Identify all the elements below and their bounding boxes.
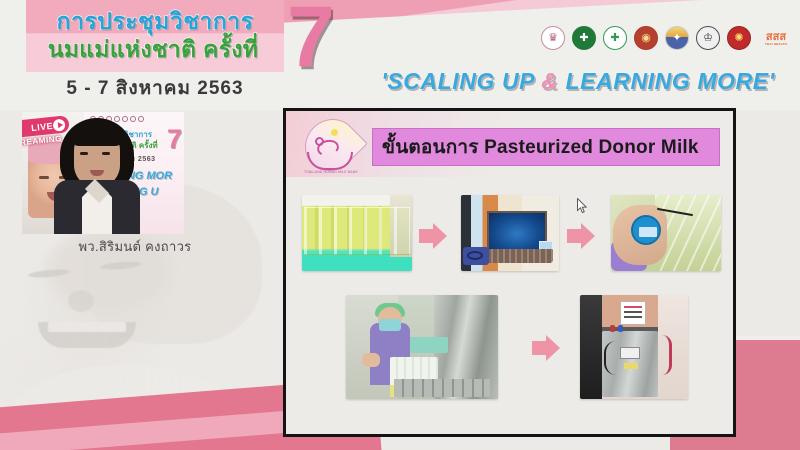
- photo-laptop-data-logger: [461, 195, 559, 271]
- speaker-fringe: [72, 126, 122, 146]
- photo2-laptop-screen: [487, 211, 547, 251]
- sponsor-logos: ♛ ✚ ✚ ◉ ✦ ♔ ✺ สสส THAI HEALTH: [541, 26, 794, 56]
- slide-title: ขั้นตอนการ Pasteurized Donor Milk: [372, 128, 720, 166]
- ministry-of-public-health-logo-glyph: ✚: [603, 26, 627, 50]
- watermark-eye-left: [28, 268, 70, 279]
- human-milk-bank-logo-caption: THAILAND HUMAN MILK BANK: [300, 170, 362, 174]
- process-arrow-1-head: [433, 223, 447, 249]
- thai-breastfeeding-center-logo-glyph: ✚: [572, 26, 596, 50]
- watermark-nose: [68, 290, 94, 312]
- photo4-nurse-hand: [362, 353, 380, 367]
- tagline-prefix: 'SCALING UP: [381, 68, 541, 94]
- photo4-green-tray: [406, 337, 448, 353]
- poster-edition-number: 7: [167, 126, 182, 153]
- speaker-name: พว.สิริมนต์ คงถาวร: [20, 236, 250, 257]
- nursing-council-logo-glyph: ♔: [696, 26, 720, 50]
- photo-handheld-temperature-meter: [611, 195, 721, 271]
- presentation-slide[interactable]: THAILAND HUMAN MILK BANK ขั้นตอนการ Past…: [283, 108, 736, 437]
- photo5-wall-sign: [620, 301, 646, 325]
- photo5-control-panel: [620, 347, 640, 359]
- royal-college-logo: ✦: [665, 26, 691, 56]
- photo5-doorframe: [580, 295, 602, 399]
- photo4-metal-tray: [394, 379, 490, 397]
- speaker-eye-left: [80, 152, 88, 155]
- milk-droplet-dot-icon: [331, 129, 338, 136]
- photo5-red-valve: [610, 325, 615, 332]
- process-row-bottom: [286, 289, 736, 419]
- process-row-top: [286, 193, 736, 281]
- photo-milk-bottles-rack: [302, 195, 412, 271]
- photo2-laptop-keyboard: [481, 249, 553, 263]
- royal-patronage-logo: ♛: [541, 26, 567, 56]
- medical-association-logo: ✺: [727, 26, 753, 56]
- screen: การประชุมวิชาการ นมแม่แห่งชาติ ครั้งที่ …: [0, 0, 800, 450]
- poster-child-eye-left: [39, 176, 49, 179]
- tagline-ampersand: &: [541, 68, 558, 94]
- speaker-eye-right: [102, 152, 110, 155]
- live-badge-label: LIVE: [31, 120, 54, 132]
- process-arrow-2-head: [581, 223, 595, 249]
- thaihealth-sss-logo-mark: สสส THAI HEALTH: [758, 26, 794, 52]
- photo5-hose: [662, 335, 672, 375]
- cradling-hands-icon: [307, 152, 353, 170]
- royal-college-logo-glyph: ✦: [665, 26, 689, 50]
- conference-tagline: 'SCALING UP & LEARNING MORE': [360, 68, 796, 95]
- tagline-suffix: LEARNING MORE': [558, 68, 774, 94]
- department-of-health-logo: ◉: [634, 26, 660, 56]
- ministry-of-public-health-logo: ✚: [603, 26, 629, 56]
- department-of-health-logo-glyph: ◉: [634, 26, 658, 50]
- photo5-blue-valve: [618, 325, 623, 332]
- conference-title-line2: นมแม่แห่งชาติ ครั้งที่: [22, 32, 284, 68]
- photo-pasteurizer-machine: [580, 295, 688, 399]
- human-milk-bank-logo: THAILAND HUMAN MILK BANK: [300, 116, 362, 182]
- speaker-video-feed[interactable]: การประชุมวิชาการ นมแม่แห่งชาติ ครั้งที่ …: [22, 112, 184, 234]
- photo4-face-mask: [379, 319, 401, 331]
- photo3-thermometer-device: [631, 215, 661, 245]
- nursing-council-logo: ♔: [696, 26, 722, 56]
- thaihealth-sss-logo: สสส THAI HEALTH: [758, 26, 794, 56]
- play-icon: [52, 118, 65, 131]
- conference-edition-number: 7: [287, 0, 335, 80]
- photo5-power-cord: [604, 341, 618, 375]
- photo-nurse-loading-bottles: [346, 295, 498, 399]
- photo2-cable: [467, 251, 483, 260]
- thaihealth-sss-subtext: THAI HEALTH: [765, 43, 787, 46]
- conference-header: การประชุมวิชาการ นมแม่แห่งชาติ ครั้งที่ …: [0, 0, 800, 110]
- watermark-teeth: [48, 322, 126, 332]
- medical-association-logo-glyph: ✺: [727, 26, 751, 50]
- photo5-yellow-label: [624, 363, 638, 369]
- conference-dates: 5 - 7 สิงหาคม 2563: [30, 73, 280, 103]
- process-arrow-3-head: [546, 335, 560, 361]
- thai-breastfeeding-center-logo: ✚: [572, 26, 598, 56]
- royal-patronage-logo-glyph: ♛: [541, 26, 565, 50]
- photo1-bottle-rack: [304, 207, 410, 255]
